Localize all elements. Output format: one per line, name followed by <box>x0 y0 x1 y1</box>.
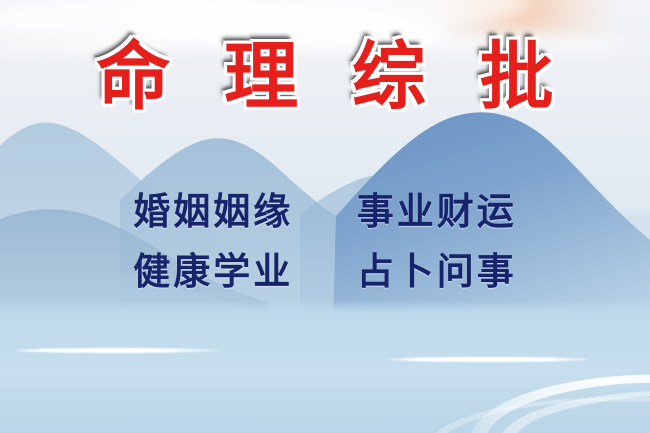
services-area: 婚姻姻缘 事业财运 健康学业 占卜问事 <box>0 182 650 302</box>
fortune-telling-banner: 命 理 综 批 婚姻姻缘 事业财运 健康学业 占卜问事 <box>0 0 650 433</box>
banner-title: 命 理 综 批 <box>82 40 567 114</box>
services-line-1: 婚姻姻缘 事业财运 <box>0 182 650 242</box>
title-area: 命 理 综 批 <box>0 40 650 114</box>
services-line-2: 健康学业 占卜问事 <box>0 242 650 302</box>
